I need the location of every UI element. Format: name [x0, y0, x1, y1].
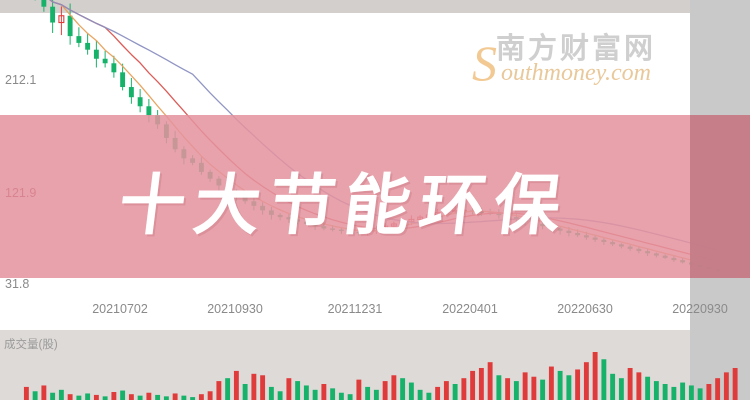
stock-chart-banner: 212.1 121.9 31.8 20210702 20210930 20211… — [0, 0, 750, 400]
watermark-initial-s: S — [472, 34, 497, 92]
y-axis-tick-mid: 121.9 — [5, 186, 36, 200]
x-axis-tick-3: 20211231 — [328, 302, 383, 316]
pink-brand-band-right — [690, 115, 750, 278]
x-axis-tick-5: 20220630 — [557, 302, 613, 316]
x-axis-tick-6: 20220930 — [672, 302, 728, 316]
watermark-en-text: outhmoney.com — [501, 61, 651, 85]
y-axis-tick-high: 212.1 — [5, 73, 36, 87]
x-axis-tick-2: 20210930 — [207, 302, 263, 316]
x-axis-tick-4: 20220401 — [442, 302, 498, 316]
watermark-cn-text: 南方财富网 — [496, 33, 656, 63]
x-axis-tick-1: 20210702 — [92, 302, 148, 316]
y-axis-tick-low: 31.8 — [5, 277, 29, 291]
volume-axis-title: 成交量(股) — [4, 336, 58, 352]
pink-brand-band — [0, 115, 750, 278]
